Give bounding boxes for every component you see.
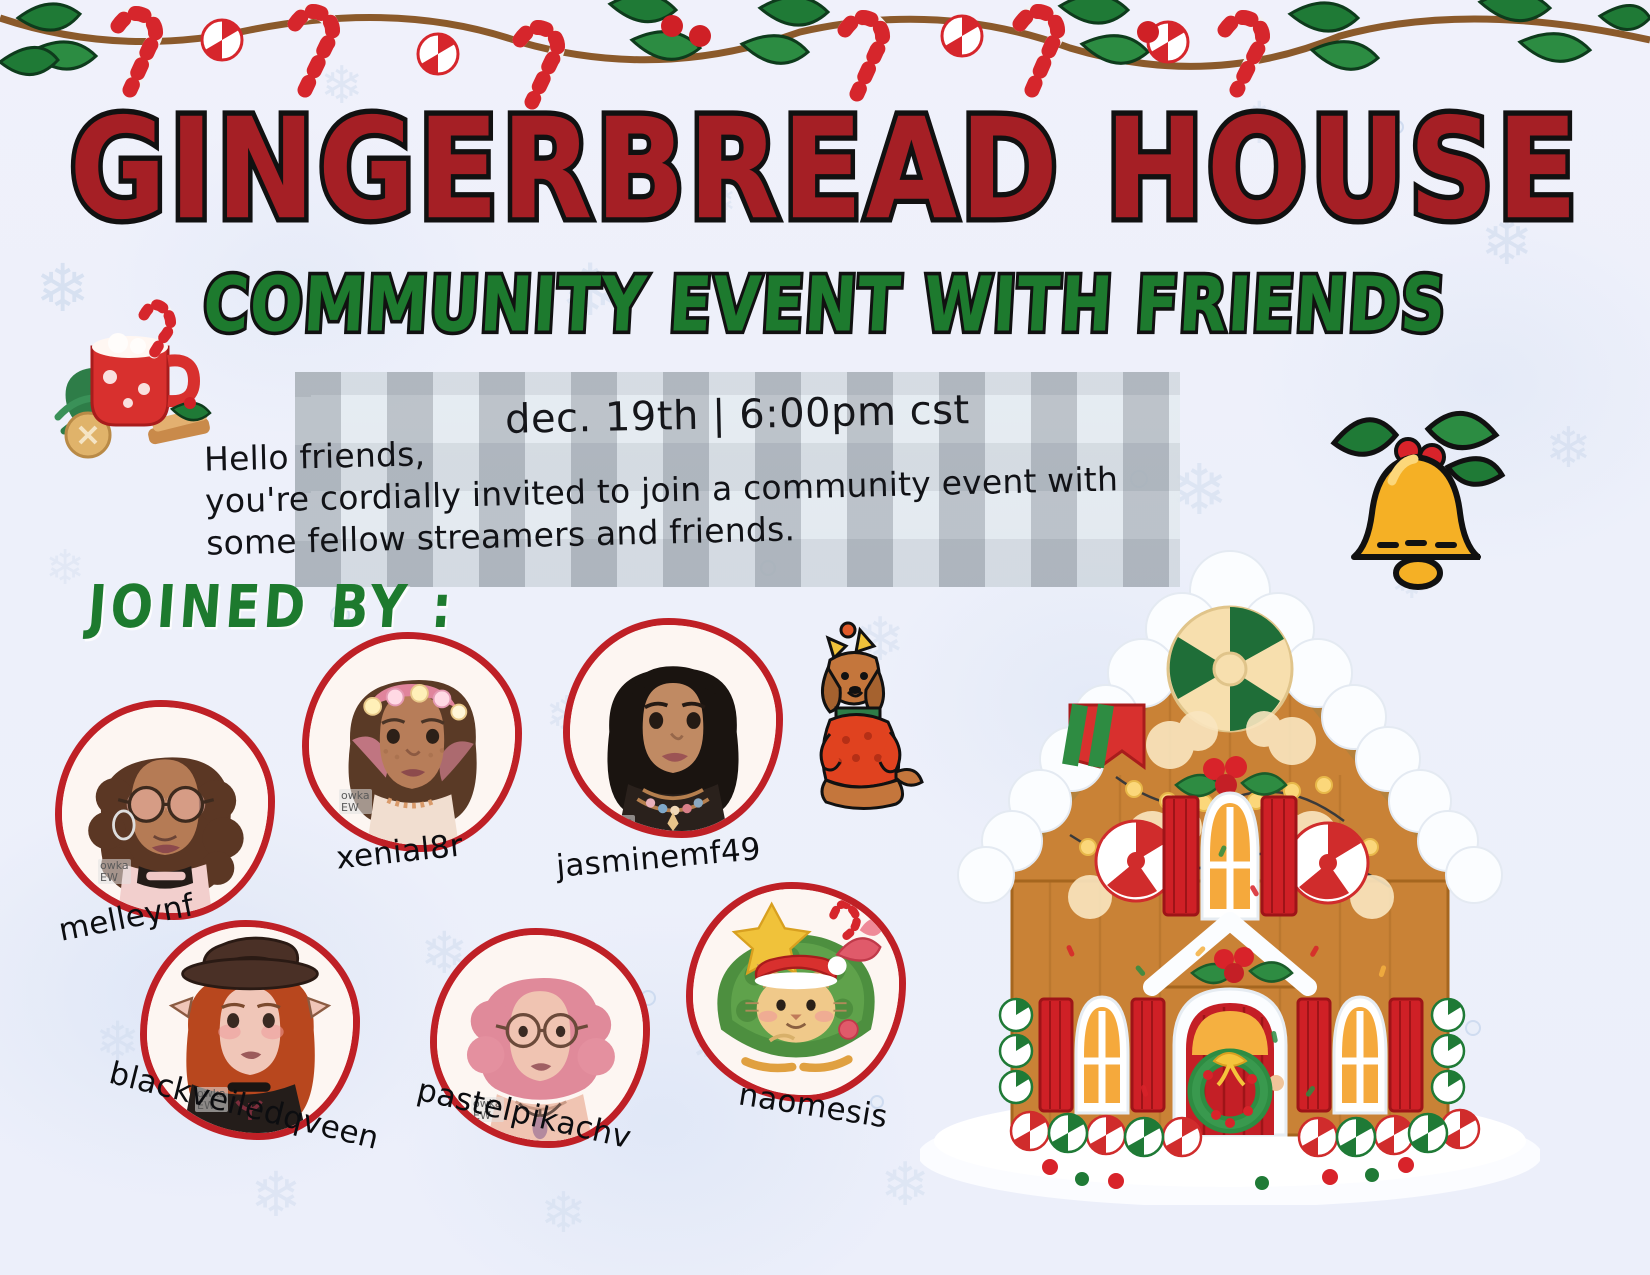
snowflake-icon: ❄	[250, 1165, 302, 1227]
title-block: GINGERBREAD HOUSE COMMUNITY EVENT WITH F…	[0, 108, 1650, 341]
candy-cane-icon	[1020, 12, 1058, 91]
artist-watermark: owka EW	[339, 789, 372, 814]
avatar-portrait-xenial8r	[309, 639, 515, 845]
participant-avatar[interactable]: owka EW	[55, 700, 275, 920]
snowflake-icon: ❄	[45, 545, 85, 593]
avatar-blob-frame	[686, 882, 906, 1102]
joined-by-label: JOINED BY :	[85, 573, 458, 641]
snowflake-icon: ❄	[1545, 420, 1592, 476]
participant-avatar[interactable]	[686, 882, 906, 1102]
avatar-blob-frame: owka EW	[302, 632, 522, 852]
holly-berry-icon	[1137, 21, 1159, 43]
avatar-portrait-jasminemf49	[570, 625, 776, 831]
ornament-icon	[839, 1020, 858, 1039]
gingerbread-house-illustration	[920, 545, 1540, 1205]
snowflake-icon: ❄	[540, 1185, 587, 1241]
participant-avatar[interactable]: owka EW	[302, 632, 522, 852]
participant-avatar[interactable]: owka EW	[563, 618, 783, 838]
avatar-portrait-naomesis	[693, 889, 899, 1095]
peppermint-icon	[1288, 823, 1368, 903]
poster-canvas: ❄ ❄ ❄ ❄ ❄ ❄ ❄ ❄ ❄ ❄ ❄ ❄ ❄ ❄ ❄ ❄ ❄ ❄ ❄ ❄	[0, 0, 1650, 1275]
artist-watermark: owka EW	[602, 815, 635, 838]
page-title: GINGERBREAD HOUSE	[0, 97, 1650, 243]
artist-watermark: owka EW	[98, 859, 131, 884]
candy-cane-icon	[845, 18, 883, 95]
candy-cane-icon	[118, 14, 156, 91]
avatar-blob-frame: owka EW	[55, 700, 275, 920]
peppermint-icon	[942, 16, 982, 56]
peppermint-icon	[202, 20, 242, 60]
peppermint-icon	[418, 34, 458, 74]
avatar-blob-frame: owka EW	[563, 618, 783, 838]
candy-cane-icon	[1225, 18, 1263, 91]
page-subtitle: COMMUNITY EVENT WITH FRIENDS	[0, 260, 1650, 349]
participant-handle: jasminemf49	[555, 831, 763, 885]
avatar-portrait-melleynf	[62, 707, 268, 913]
dog-illustration	[800, 612, 930, 812]
